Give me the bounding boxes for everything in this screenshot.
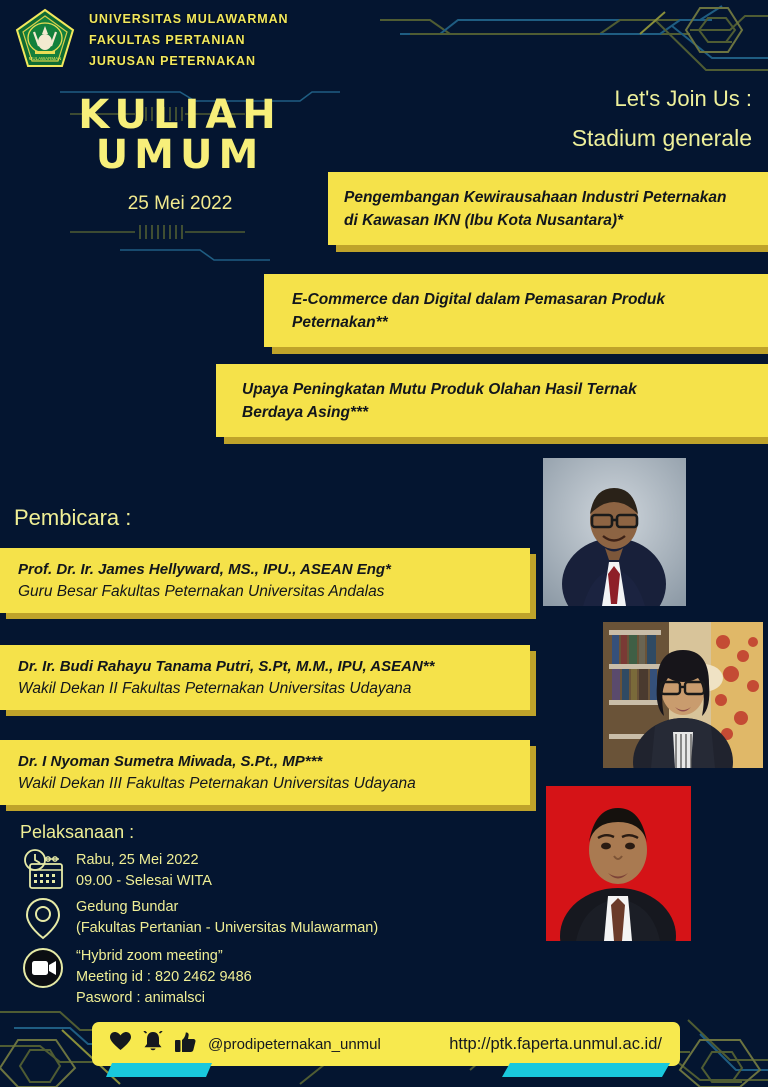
topic-2-line-1: E-Commerce dan Digital dalam Pemasaran P…	[292, 288, 754, 311]
footer-bar: @prodipeternakan_unmul http://ptk.fapert…	[92, 1022, 680, 1066]
execution-details: Pelaksanaan :	[20, 822, 480, 1012]
speaker-banner-3: Dr. I Nyoman Sumetra Miwada, S.Pt., MP**…	[0, 740, 530, 805]
footer-teal-accent-left	[106, 1063, 212, 1077]
execution-row-zoom: “Hybrid zoom meeting” Meeting id : 820 2…	[20, 944, 480, 1009]
execution-zoom-line-3: Pasword : animalsci	[76, 988, 252, 1009]
speaker-1-role: Guru Besar Fakultas Peternakan Universit…	[18, 581, 516, 603]
execution-zoom-line-1: “Hybrid zoom meeting”	[76, 946, 252, 967]
speaker-banner-1: Prof. Dr. Ir. James Hellyward, MS., IPU.…	[0, 548, 530, 613]
speaker-3-role: Wakil Dekan III Fakultas Peternakan Univ…	[18, 773, 516, 795]
svg-text:MULAWARMAN: MULAWARMAN	[29, 56, 62, 61]
thumbs-up-icon	[175, 1032, 196, 1057]
speaker-3-name: Dr. I Nyoman Sumetra Miwada, S.Pt., MP**…	[18, 751, 516, 773]
topic-3-line-2: Berdaya Asing***	[242, 401, 754, 424]
speaker-2-role: Wakil Dekan II Fakultas Peternakan Unive…	[18, 678, 516, 700]
poster-header: MULAWARMAN UNIVERSITAS MULAWARMAN FAKULT…	[14, 8, 288, 72]
speaker-photo-i-nyoman-sumetra-miwada	[546, 786, 691, 941]
heart-icon	[110, 1032, 131, 1056]
execution-location-line-2: (Fakultas Pertanian - Universitas Mulawa…	[76, 918, 378, 939]
execution-datetime-line-2: 09.00 - Selesai WITA	[76, 871, 212, 892]
location-pin-icon	[20, 895, 66, 941]
execution-zoom-line-2: Meeting id : 820 2462 9486	[76, 967, 252, 988]
website-url[interactable]: http://ptk.faperta.unmul.ac.id/	[449, 1035, 662, 1054]
execution-location-line-1: Gedung Bundar	[76, 897, 378, 918]
topic-1-line-2: di Kawasan IKN (Ibu Kota Nusantara)*	[344, 209, 754, 232]
join-us-line-2: Stadium generale	[572, 125, 752, 152]
topic-banner-3: Upaya Peningkatan Mutu Produk Olahan Has…	[216, 364, 768, 437]
join-us-line-1: Let's Join Us :	[572, 86, 752, 112]
video-camera-icon	[20, 944, 66, 990]
institution-line-3: JURUSAN PETERNAKAN	[89, 54, 288, 68]
speaker-1-name: Prof. Dr. Ir. James Hellyward, MS., IPU.…	[18, 559, 516, 581]
speaker-photo-budi-rahayu-tanama-putri	[603, 622, 763, 768]
clock-calendar-icon	[20, 848, 66, 890]
event-date: 25 Mei 2022	[0, 193, 360, 215]
speaker-2-name: Dr. Ir. Budi Rahayu Tanama Putri, S.Pt, …	[18, 656, 516, 678]
title-block: KULIAH UMUM 25 Mei 2022	[0, 95, 360, 215]
page-title: KULIAH UMUM	[0, 95, 360, 175]
topic-banner-2: E-Commerce dan Digital dalam Pemasaran P…	[264, 274, 768, 347]
topic-banner-1: Pengembangan Kewirausahaan Industri Pete…	[328, 172, 768, 245]
institution-line-1: UNIVERSITAS MULAWARMAN	[89, 12, 288, 26]
footer-teal-accent-right	[502, 1063, 670, 1077]
join-us-block: Let's Join Us : Stadium generale	[572, 86, 752, 152]
execution-row-location: Gedung Bundar (Fakultas Pertanian - Univ…	[20, 895, 480, 941]
institution-line-2: FAKULTAS PERTANIAN	[89, 33, 288, 47]
university-crest-icon: MULAWARMAN	[14, 8, 76, 72]
social-handle[interactable]: @prodipeternakan_unmul	[208, 1036, 381, 1053]
execution-datetime-line-1: Rabu, 25 Mei 2022	[76, 850, 212, 871]
execution-label: Pelaksanaan :	[20, 822, 480, 843]
execution-row-datetime: Rabu, 25 Mei 2022 09.00 - Selesai WITA	[20, 848, 480, 892]
poster-canvas: MULAWARMAN UNIVERSITAS MULAWARMAN FAKULT…	[0, 0, 768, 1087]
speakers-label: Pembicara :	[14, 505, 131, 531]
topic-1-line-1: Pengembangan Kewirausahaan Industri Pete…	[344, 186, 754, 209]
topic-2-line-2: Peternakan**	[292, 311, 754, 334]
speaker-photo-james-hellyward	[543, 458, 686, 606]
speaker-banner-2: Dr. Ir. Budi Rahayu Tanama Putri, S.Pt, …	[0, 645, 530, 710]
topic-3-line-1: Upaya Peningkatan Mutu Produk Olahan Has…	[242, 378, 754, 401]
bell-icon	[143, 1031, 163, 1057]
